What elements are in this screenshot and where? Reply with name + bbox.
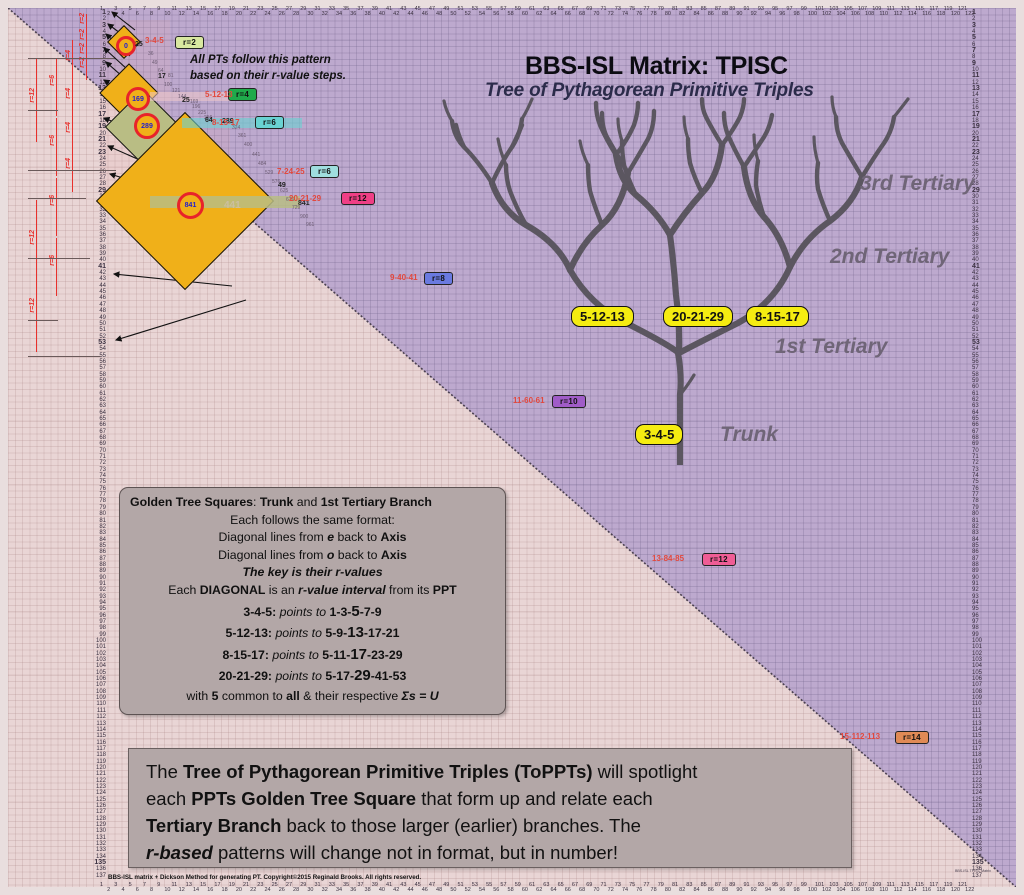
col-index-bottom-51: 51: [458, 882, 464, 888]
r-interval-label-r=4: r=4: [65, 158, 72, 169]
r-interval-label-r=2: r=2: [79, 13, 86, 24]
col-index-bottom-45: 45: [415, 882, 421, 888]
col-index-bottom-77: 77: [643, 882, 649, 888]
col-index-bottom-6: 6: [136, 887, 139, 893]
legend-row-chain-post: -41-53: [371, 669, 407, 683]
label-3rd-tertiary: 3rd Tertiary: [860, 172, 975, 196]
summary-box: The Tree of Pythagorean Primitive Triple…: [128, 748, 852, 868]
col-index-28: 28: [293, 11, 299, 17]
col-index-96: 96: [779, 11, 785, 17]
col-index-bottom-14: 14: [193, 887, 199, 893]
col-index-bottom-49: 49: [443, 882, 449, 888]
r-tag-3-4-5[interactable]: r=2: [175, 36, 204, 49]
col-index-44: 44: [407, 11, 413, 17]
col-index-1: 1: [100, 6, 103, 12]
col-index-81: 81: [672, 6, 678, 12]
r-interval-label-r=4: r=4: [65, 88, 72, 99]
r-interval-tick-8: [56, 58, 57, 116]
col-index-13: 13: [186, 6, 192, 12]
legend-line-4: Diagonal lines from o back to Axis: [128, 547, 497, 565]
col-index-bottom-73: 73: [615, 882, 621, 888]
summary-line-3: Tertiary Branch back to those larger (ea…: [146, 812, 851, 839]
triple-label-3-4-5: 3-4-5: [145, 36, 164, 45]
col-index-bottom-27: 27: [286, 882, 292, 888]
legend-row-verb: points to: [275, 669, 322, 683]
col-index-12: 12: [179, 11, 185, 17]
r-interval-label-r=6: r=6: [49, 135, 56, 146]
legend-row-chain-pre: 5-17-: [325, 669, 354, 683]
col-index-80: 80: [665, 11, 671, 17]
r-interval-tick-10: [56, 178, 57, 236]
col-index-61: 61: [529, 6, 535, 12]
summary-l2a: each: [146, 788, 191, 809]
legend-line-3: Diagonal lines from e back to Axis: [128, 529, 497, 547]
col-index-bottom-55: 55: [486, 882, 492, 888]
col-index-63: 63: [543, 6, 549, 12]
col-index-bottom-25: 25: [272, 882, 278, 888]
col-index-21: 21: [243, 6, 249, 12]
col-index-88: 88: [722, 11, 728, 17]
col-index-bottom-62: 62: [536, 887, 542, 893]
col-index-16: 16: [207, 11, 213, 17]
legend-l3d: Axis: [381, 530, 407, 544]
col-index-79: 79: [658, 6, 664, 12]
col-index-bottom-30: 30: [307, 887, 313, 893]
col-index-bottom-70: 70: [593, 887, 599, 893]
col-index-bottom-48: 48: [436, 887, 442, 893]
col-index-bottom-13: 13: [186, 882, 192, 888]
col-index-bottom-38: 38: [365, 887, 371, 893]
col-index-50: 50: [450, 11, 456, 17]
col-index-bottom-35: 35: [343, 882, 349, 888]
r-interval-label-r=6: r=6: [49, 75, 56, 86]
r-interval-label-r=2: r=2: [79, 43, 86, 54]
col-index-71: 71: [601, 6, 607, 12]
corner-watermark: BBS-ISL TPISC Matrix: [955, 869, 991, 873]
col-index-bottom-33: 33: [329, 882, 335, 888]
col-index-92: 92: [751, 11, 757, 17]
col-index-73: 73: [615, 6, 621, 12]
col-index-95: 95: [772, 6, 778, 12]
col-index-bottom-72: 72: [608, 887, 614, 893]
col-index-20: 20: [236, 11, 242, 17]
col-index-bottom-63: 63: [543, 882, 549, 888]
col-index-bottom-41: 41: [386, 882, 392, 888]
col-index-97: 97: [786, 6, 792, 12]
col-index-bottom-95: 95: [772, 882, 778, 888]
col-index-bottom-93: 93: [758, 882, 764, 888]
legend-l6d: r-value interval: [298, 583, 385, 597]
legend-heading-d: and: [293, 495, 320, 509]
r-tag-8-15-17[interactable]: r=6: [255, 116, 284, 129]
summary-line-4: r-based patterns will change not in form…: [146, 839, 851, 866]
legend-row-verb: points to: [275, 626, 322, 640]
col-index-9: 9: [157, 6, 160, 12]
legend-last-c: common to: [218, 689, 286, 703]
col-index-98: 98: [794, 11, 800, 17]
col-index-55: 55: [486, 6, 492, 12]
r-interval-tick-3: [86, 58, 87, 80]
summary-l4b: patterns will change not in format, but …: [213, 842, 618, 863]
row-axis-right: 1234567891011121314151617181920212223242…: [972, 10, 990, 879]
col-index-77: 77: [643, 6, 649, 12]
col-index-15: 15: [200, 6, 206, 12]
col-index-bottom-16: 16: [207, 887, 213, 893]
summary-l3a: Tertiary Branch: [146, 815, 281, 836]
legend-l4d: Axis: [381, 548, 407, 562]
col-index-62: 62: [536, 11, 542, 17]
legend-l4c: back to: [334, 548, 380, 562]
r-tag-7-24-25[interactable]: r=6: [310, 165, 339, 178]
legend-heading-b: :: [253, 495, 260, 509]
col-index-bottom-34: 34: [336, 887, 342, 893]
legend-heading-c: Trunk: [260, 495, 293, 509]
r-interval-label-r=12: r=12: [29, 230, 36, 245]
page-title: BBS-ISL Matrix: TPISC: [525, 52, 788, 81]
col-index-bottom-52: 52: [465, 887, 471, 893]
col-index-bottom-3: 3: [114, 882, 117, 888]
col-index-3: 3: [114, 6, 117, 12]
col-index-bottom-29: 29: [300, 882, 306, 888]
ppt-pill-3-4-5[interactable]: 3-4-5: [635, 424, 683, 445]
r-tag-13-84-85[interactable]: r=12: [702, 553, 736, 566]
legend-last-a: with: [186, 689, 211, 703]
col-index-19: 19: [229, 6, 235, 12]
col-index-47: 47: [429, 6, 435, 12]
col-index-24: 24: [264, 11, 270, 17]
col-index-30: 30: [307, 11, 313, 17]
copyright-footer: BBS-ISL matrix + Dickson Method for gene…: [108, 874, 421, 881]
col-index-bottom-89: 89: [729, 882, 735, 888]
col-index-86: 86: [708, 11, 714, 17]
col-index-bottom-17: 17: [214, 882, 220, 888]
col-index-bottom-50: 50: [450, 887, 456, 893]
matrix-poster: 1234567891011121314151617181920212223242…: [0, 0, 1024, 895]
r-interval-label-r=2: r=2: [79, 29, 86, 40]
col-index-122: 122: [965, 11, 974, 17]
legend-row-chain-pre: 5-11-: [322, 648, 350, 662]
legend-row-chain-post: -17-21: [364, 626, 400, 640]
col-index-33: 33: [329, 6, 335, 12]
legend-line-2: Each follows the same format:: [128, 512, 497, 530]
col-index-bottom-57: 57: [500, 882, 506, 888]
col-index-99: 99: [801, 6, 807, 12]
row-index-right-137: 137: [972, 873, 990, 879]
col-index-82: 82: [679, 11, 685, 17]
legend-row-chain-big: 29: [354, 667, 371, 684]
col-index-25: 25: [272, 6, 278, 12]
col-index-65: 65: [558, 6, 564, 12]
r-interval-rule-3: [28, 198, 86, 199]
col-index-bottom-91: 91: [744, 882, 750, 888]
col-index-bottom-2: 2: [107, 887, 110, 893]
col-index-bottom-82: 82: [679, 887, 685, 893]
col-index-bottom-4: 4: [121, 887, 124, 893]
r-interval-tick-12: [36, 58, 37, 142]
triple-label-7-24-25: 7-24-25: [277, 167, 305, 176]
col-index-70: 70: [593, 11, 599, 17]
legend-l3c: back to: [334, 530, 380, 544]
col-index-72: 72: [608, 11, 614, 17]
summary-l1a: The: [146, 761, 183, 782]
col-index-bottom-76: 76: [636, 887, 642, 893]
legend-l6b: DIAGONAL: [200, 583, 266, 597]
r-interval-rule-2: [28, 170, 116, 171]
col-index-75: 75: [629, 6, 635, 12]
col-index-bottom-31: 31: [315, 882, 321, 888]
col-index-40: 40: [379, 11, 385, 17]
col-index-11: 11: [172, 6, 178, 12]
legend-l4a: Diagonal lines from: [218, 548, 327, 562]
r-interval-rule-5: [28, 320, 58, 321]
r-interval-label-r=12: r=12: [29, 88, 36, 103]
col-index-bottom-92: 92: [751, 887, 757, 893]
r-interval-tick-14: [36, 268, 37, 352]
col-index-bottom-61: 61: [529, 882, 535, 888]
col-index-bottom-5: 5: [129, 882, 132, 888]
r-interval-tick-11: [56, 238, 57, 296]
legend-row-ppt: 20-21-29:: [219, 669, 272, 683]
col-index-22: 22: [250, 11, 256, 17]
col-index-29: 29: [300, 6, 306, 12]
legend-row-5-12-13: 5-12-13: points to 5-9-13-17-21: [128, 624, 497, 643]
label-trunk: Trunk: [720, 423, 778, 447]
col-index-46: 46: [422, 11, 428, 17]
triple-label-9-40-41: 9-40-41: [390, 273, 418, 282]
col-index-90: 90: [736, 11, 742, 17]
col-index-35: 35: [343, 6, 349, 12]
legend-row-chain-big: 5: [351, 603, 359, 620]
col-index-bottom-37: 37: [357, 882, 363, 888]
r-tag-15-112-113[interactable]: r=14: [895, 731, 929, 744]
summary-l2c: that form up and relate each: [416, 788, 653, 809]
col-index-91: 91: [744, 6, 750, 12]
col-index-bottom-71: 71: [601, 882, 607, 888]
col-index-bottom-21: 21: [243, 882, 249, 888]
col-index-bottom-23: 23: [257, 882, 263, 888]
col-index-bottom-22: 22: [250, 887, 256, 893]
col-index-bottom-44: 44: [407, 887, 413, 893]
legend-row-ppt: 8-15-17:: [222, 648, 268, 662]
col-index-36: 36: [350, 11, 356, 17]
legend-row-8-15-17: 8-15-17: points to 5-11-17-23-29: [128, 646, 497, 665]
col-index-66: 66: [565, 11, 571, 17]
col-index-59: 59: [515, 6, 521, 12]
r-interval-rule-6: [28, 356, 100, 357]
col-index-bottom-67: 67: [572, 882, 578, 888]
col-index-bottom-43: 43: [400, 882, 406, 888]
col-index-10: 10: [164, 11, 170, 17]
r-interval-label-r=4: r=4: [65, 122, 72, 133]
ppt-pill-5-12-13[interactable]: 5-12-13: [571, 306, 634, 327]
col-index-bottom-66: 66: [565, 887, 571, 893]
col-index-bottom-87: 87: [715, 882, 721, 888]
triple-label-8-15-17: 8-15-17: [212, 118, 240, 127]
r-interval-label-r=6: r=6: [49, 195, 56, 206]
row-index-137: 137: [88, 873, 106, 879]
label-2nd-tertiary: 2nd Tertiary: [830, 245, 949, 269]
col-index-bottom-11: 11: [172, 882, 178, 888]
col-index-78: 78: [651, 11, 657, 17]
col-index-bottom-94: 94: [765, 887, 771, 893]
legend-heading-a: Golden Tree Squares: [130, 495, 253, 509]
pattern-note: All PTs follow this pattern based on the…: [190, 52, 346, 84]
legend-l6c: is an: [265, 583, 298, 597]
legend-l6a: Each: [168, 583, 199, 597]
col-index-bottom-15: 15: [200, 882, 206, 888]
col-index-27: 27: [286, 6, 292, 12]
col-index-56: 56: [493, 11, 499, 17]
legend-row-20-21-29: 20-21-29: points to 5-17-29-41-53: [128, 667, 497, 686]
col-index-94: 94: [765, 11, 771, 17]
ppt-pill-20-21-29[interactable]: 20-21-29: [663, 306, 733, 327]
col-index-bottom-19: 19: [229, 882, 235, 888]
summary-l4a: r-based: [146, 842, 213, 863]
legend-row-verb: points to: [272, 648, 319, 662]
summary-line-2: each PPTs Golden Tree Square that form u…: [146, 785, 851, 812]
col-index-42: 42: [393, 11, 399, 17]
col-index-bottom-78: 78: [651, 887, 657, 893]
summary-l3b: back to those larger (earlier) branches.…: [281, 815, 641, 836]
legend-heading-e: 1st Tertiary Branch: [321, 495, 432, 509]
col-index-14: 14: [193, 11, 199, 17]
col-index-bottom-98: 98: [794, 887, 800, 893]
col-index-4: 4: [121, 11, 124, 17]
col-index-bottom-53: 53: [472, 882, 478, 888]
legend-line-6: Each DIAGONAL is an r-value interval fro…: [128, 582, 497, 600]
legend-last-f: Σs = U: [402, 689, 439, 703]
col-index-bottom-40: 40: [379, 887, 385, 893]
col-index-89: 89: [729, 6, 735, 12]
col-index-49: 49: [443, 6, 449, 12]
col-index-bottom-81: 81: [672, 882, 678, 888]
col-index-18: 18: [222, 11, 228, 17]
col-index-bottom-20: 20: [236, 887, 242, 893]
col-index-bottom-18: 18: [222, 887, 228, 893]
legend-last-line: with 5 common to all & their respective …: [128, 688, 497, 706]
col-index-bottom-9: 9: [157, 882, 160, 888]
col-index-bottom-7: 7: [143, 882, 146, 888]
legend-row-ppt: 3-4-5:: [243, 605, 276, 619]
col-index-37: 37: [357, 6, 363, 12]
pt-circle-20-21-29: 841: [177, 192, 204, 219]
legend-row-verb: points to: [280, 605, 327, 619]
ppt-pill-8-15-17[interactable]: 8-15-17: [746, 306, 809, 327]
col-index-41: 41: [386, 6, 392, 12]
col-index-34: 34: [336, 11, 342, 17]
triple-label-13-84-85: 13-84-85: [652, 554, 684, 563]
r-interval-rule-1: [28, 110, 58, 111]
legend-l6f: PPT: [433, 583, 457, 597]
legend-row-chain-post: -23-29: [367, 648, 403, 662]
summary-line-1: The Tree of Pythagorean Primitive Triple…: [146, 758, 851, 785]
col-index-bottom-97: 97: [786, 882, 792, 888]
col-index-bottom-85: 85: [701, 882, 707, 888]
legend-last-d: all: [286, 689, 300, 703]
col-index-bottom-75: 75: [629, 882, 635, 888]
col-index-5: 5: [129, 6, 132, 12]
legend-row-chain-pre: 5-9-: [325, 626, 347, 640]
col-index-2: 2: [107, 11, 110, 17]
r-interval-rule-0: [28, 58, 116, 59]
col-index-68: 68: [579, 11, 585, 17]
pt-circle-8-15-17: 289: [134, 113, 160, 139]
legend-row-chain-big: 17: [350, 646, 367, 663]
col-index-26: 26: [279, 11, 285, 17]
col-index-8: 8: [150, 11, 153, 17]
col-index-bottom-36: 36: [350, 887, 356, 893]
col-index-bottom-39: 39: [372, 882, 378, 888]
col-index-69: 69: [586, 6, 592, 12]
r-tag-20-21-29[interactable]: r=12: [341, 192, 375, 205]
col-index-bottom-64: 64: [550, 887, 556, 893]
col-index-bottom-69: 69: [586, 882, 592, 888]
col-index-6: 6: [136, 11, 139, 17]
col-index-60: 60: [522, 11, 528, 17]
summary-l1b: Tree of Pythagorean Primitive Triples (T…: [183, 761, 593, 782]
col-index-bottom-86: 86: [708, 887, 714, 893]
col-index-bottom-84: 84: [693, 887, 699, 893]
col-index-54: 54: [479, 11, 485, 17]
col-index-bottom-65: 65: [558, 882, 564, 888]
col-index-bottom-59: 59: [515, 882, 521, 888]
pt-circle-5-12-13: 169: [126, 87, 150, 111]
col-index-bottom-26: 26: [279, 887, 285, 893]
col-index-bottom-74: 74: [622, 887, 628, 893]
col-index-51: 51: [458, 6, 464, 12]
col-index-53: 53: [472, 6, 478, 12]
r-interval-label-r=6: r=6: [49, 255, 56, 266]
col-index-67: 67: [572, 6, 578, 12]
col-index-bottom-42: 42: [393, 887, 399, 893]
col-index-bottom-56: 56: [493, 887, 499, 893]
col-index-bottom-46: 46: [422, 887, 428, 893]
col-index-bottom-32: 32: [322, 887, 328, 893]
legend-ppt-rows: 3-4-5: points to 1-3-5-7-95-12-13: point…: [128, 603, 497, 686]
legend-line-5: The key is their r-values: [128, 564, 497, 582]
col-index-83: 83: [686, 6, 692, 12]
col-index-bottom-54: 54: [479, 887, 485, 893]
col-index-39: 39: [372, 6, 378, 12]
r-interval-label-r=4: r=4: [65, 50, 72, 61]
col-index-17: 17: [214, 6, 220, 12]
pythagorean-tree: [430, 95, 930, 465]
col-index-bottom-90: 90: [736, 887, 742, 893]
legend-last-e: & their respective: [300, 689, 402, 703]
col-index-bottom-83: 83: [686, 882, 692, 888]
col-index-bottom-79: 79: [658, 882, 664, 888]
col-index-58: 58: [508, 11, 514, 17]
col-index-52: 52: [465, 11, 471, 17]
triple-label-20-21-29: 20-21-29: [289, 194, 321, 203]
col-index-bottom-68: 68: [579, 887, 585, 893]
col-index-bottom-10: 10: [164, 887, 170, 893]
col-index-bottom-60: 60: [522, 887, 528, 893]
pt-circle-3-4-5: 0: [116, 36, 136, 56]
r-interval-label-r=12: r=12: [29, 298, 36, 313]
col-index-bottom-12: 12: [179, 887, 185, 893]
col-index-76: 76: [636, 11, 642, 17]
col-index-64: 64: [550, 11, 556, 17]
col-index-bottom-88: 88: [722, 887, 728, 893]
legend-row-chain-pre: 1-3-: [330, 605, 352, 619]
col-index-48: 48: [436, 11, 442, 17]
legend-row-3-4-5: 3-4-5: points to 1-3-5-7-9: [128, 603, 497, 622]
col-index-74: 74: [622, 11, 628, 17]
col-index-93: 93: [758, 6, 764, 12]
col-index-43: 43: [400, 6, 406, 12]
summary-l1c: will spotlight: [593, 761, 698, 782]
